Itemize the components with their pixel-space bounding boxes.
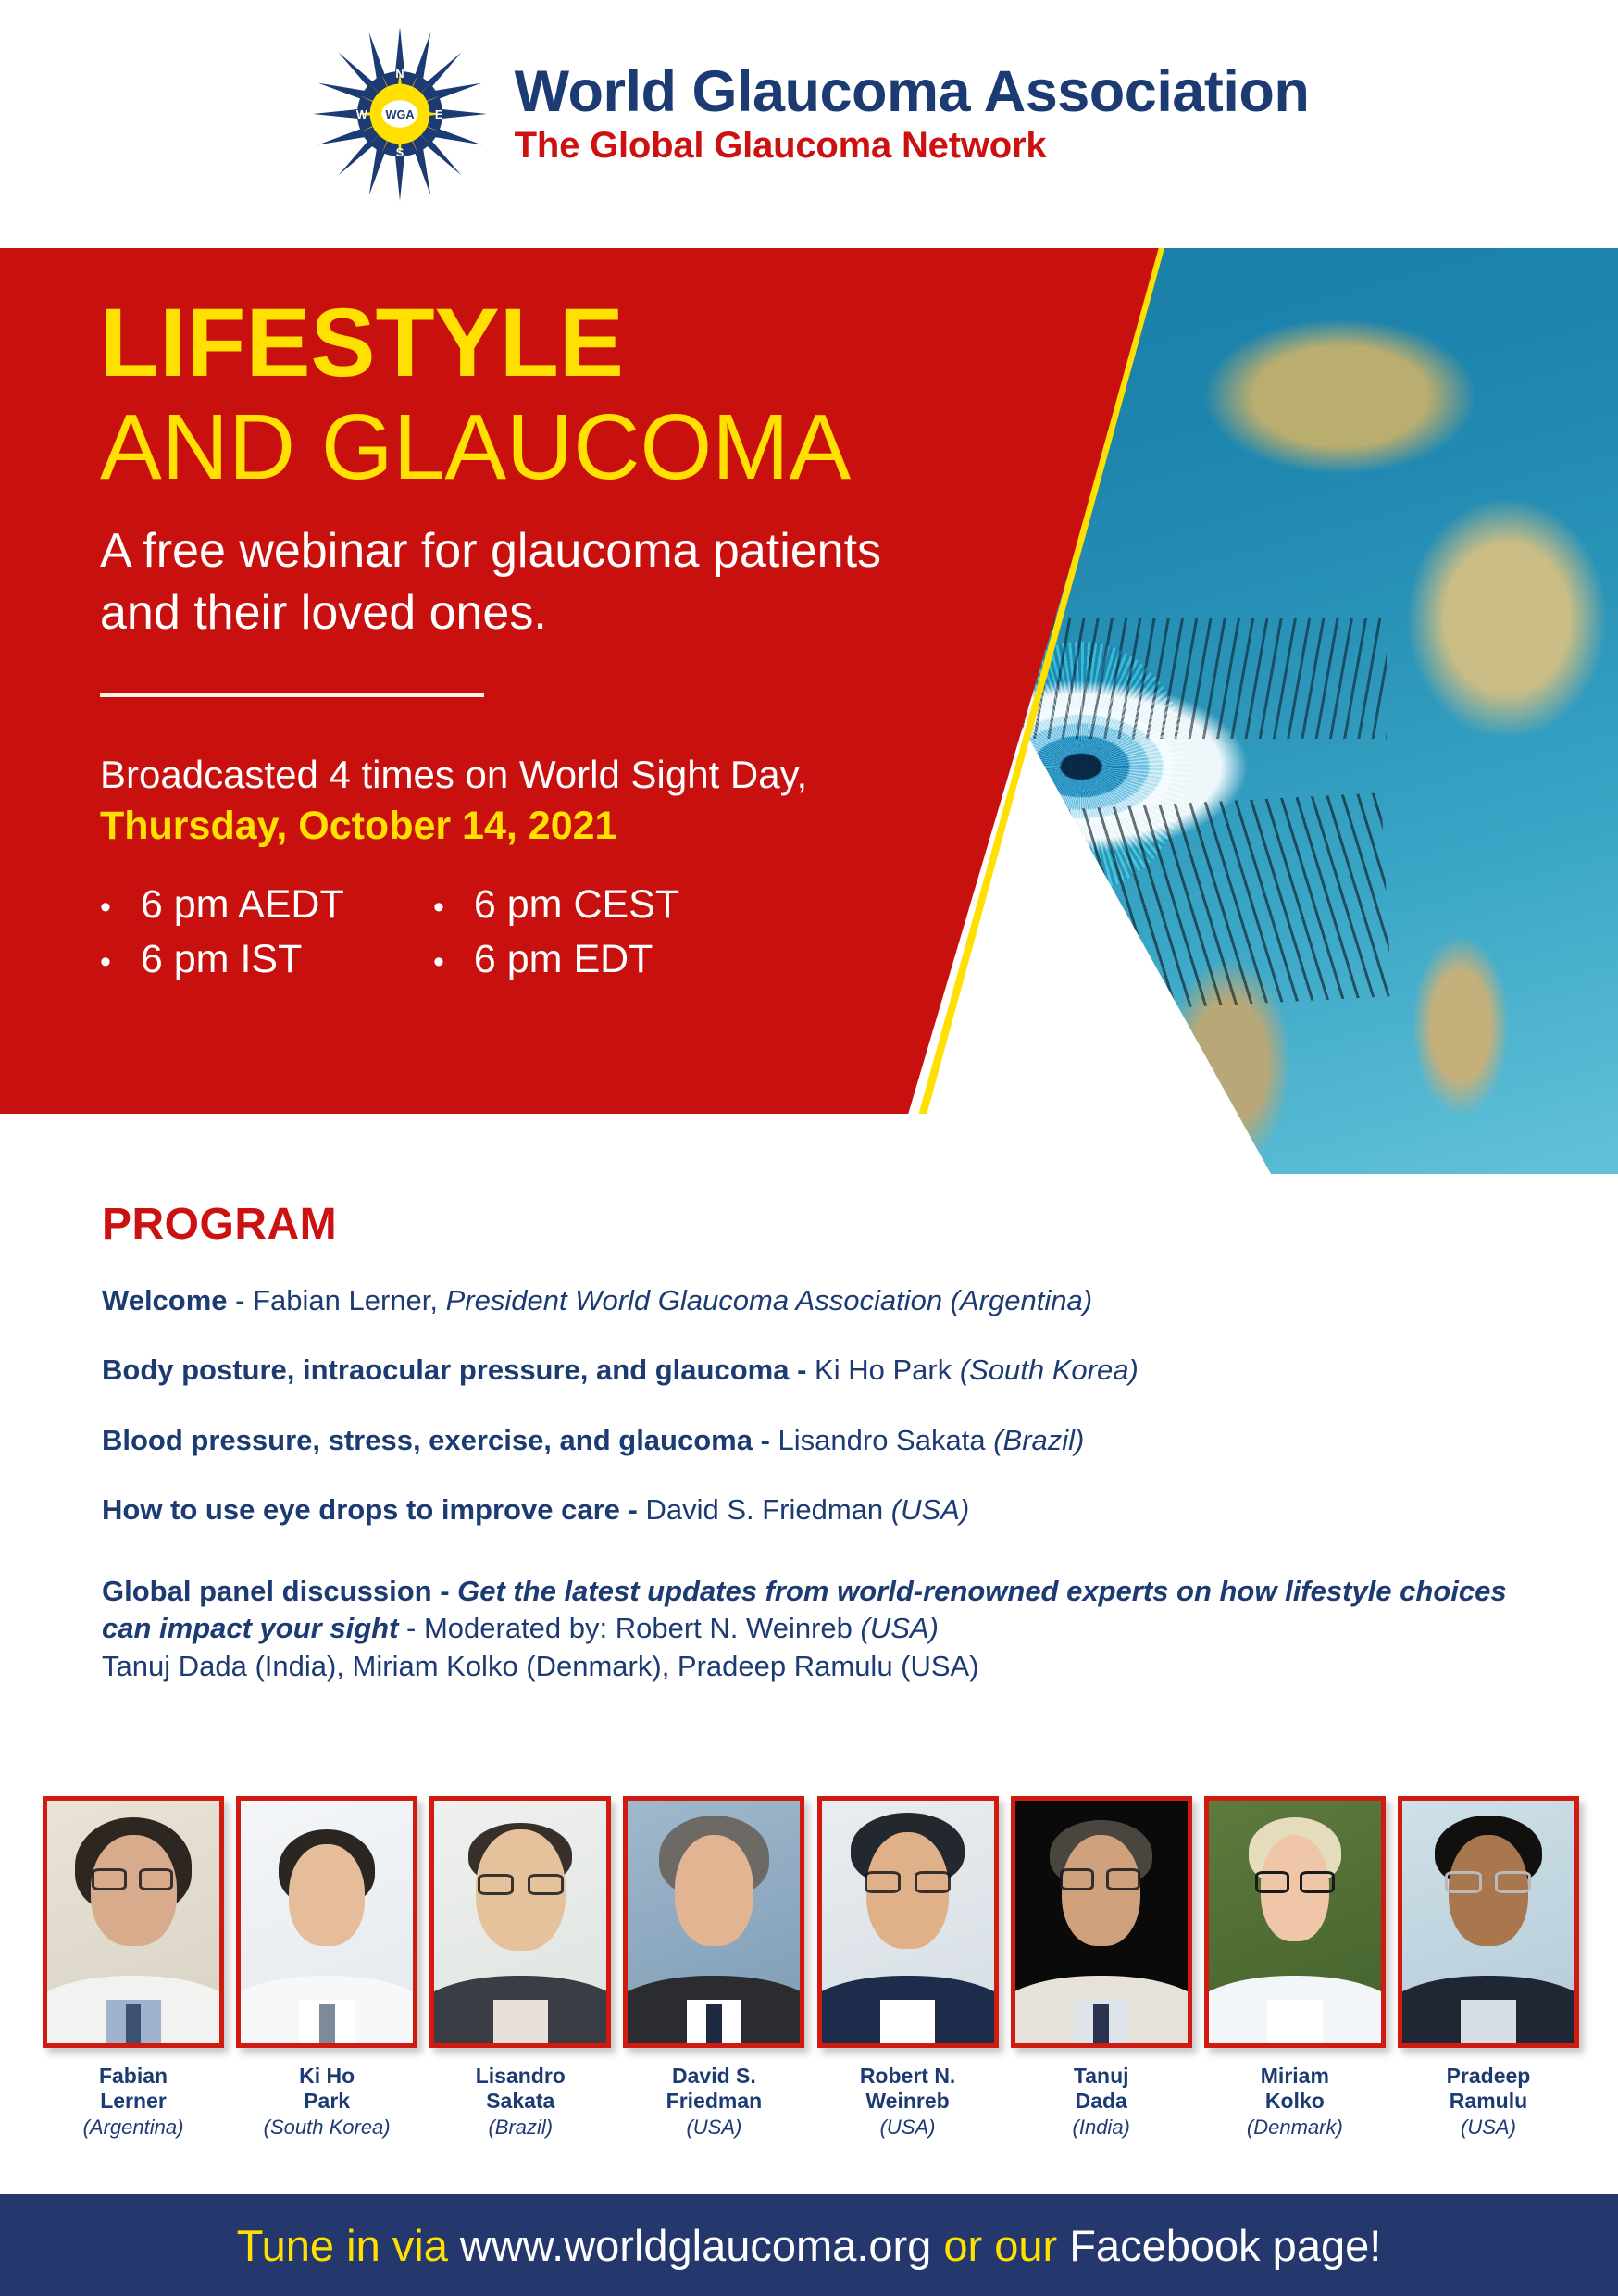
broadcast-time-label: 6 pm IST [141, 937, 302, 982]
compass-rose-icon: WGA N S W E [309, 23, 491, 205]
speaker-name: Fabian Lerner [99, 2064, 168, 2114]
speaker-country: (USA) [686, 2115, 741, 2140]
speaker-first-name: Pradeep [1447, 2064, 1531, 2088]
speaker-first-name: Tanuj [1074, 2064, 1129, 2088]
compass-north-label: N [395, 66, 404, 80]
panel-dash: - [432, 1575, 458, 1607]
footer-text: Tune in via www.worldglaucoma.org or our… [237, 2220, 1382, 2271]
hero-title-main: LIFESTYLE [100, 294, 1044, 392]
speaker-first-name: Lisandro [476, 2064, 566, 2088]
speaker-card: Robert N. Weinreb (USA) [817, 1796, 999, 2140]
panel-moderator: - Moderated by: Robert N. Weinreb [398, 1612, 860, 1644]
program-item-affiliation: (South Korea) [960, 1354, 1139, 1386]
speaker-last-name: Kolko [1265, 2089, 1325, 2113]
speaker-card: Miriam Kolko (Denmark) [1204, 1796, 1386, 2140]
speaker-card: Tanuj Dada (India) [1011, 1796, 1192, 2140]
speaker-last-name: Lerner [100, 2089, 167, 2113]
speaker-card: Fabian Lerner (Argentina) [43, 1796, 224, 2140]
footer-or-our-label: or our [931, 2221, 1069, 2270]
speaker-last-name: Ramulu [1450, 2089, 1527, 2113]
program-item-dash: - [753, 1424, 778, 1456]
program-panel-item: Global panel discussion - Get the latest… [102, 1573, 1546, 1685]
program-item-speaker: Ki Ho Park [815, 1354, 960, 1386]
program-heading: PROGRAM [102, 1199, 1546, 1250]
hero-tagline-line2: and their loved ones. [100, 586, 547, 640]
program-item-topic: Welcome [102, 1284, 228, 1316]
speaker-last-name: Sakata [486, 2089, 554, 2113]
program-item: Welcome - Fabian Lerner, President World… [102, 1282, 1546, 1319]
speaker-first-name: Fabian [99, 2064, 168, 2088]
hero-divider [100, 693, 484, 697]
program-item-dash: - [789, 1354, 815, 1386]
speaker-photo [429, 1796, 611, 2048]
bullet-icon: • [433, 946, 444, 978]
speaker-card: Pradeep Ramulu (USA) [1398, 1796, 1579, 2140]
bullet-icon: • [100, 946, 111, 978]
footer-url[interactable]: www.worldglaucoma.org [460, 2221, 931, 2270]
speaker-photo [1011, 1796, 1192, 2048]
program-item: Blood pressure, stress, exercise, and gl… [102, 1422, 1546, 1459]
speaker-name: Pradeep Ramulu [1447, 2064, 1531, 2114]
hero-content: LIFESTYLE AND GLAUCOMA A free webinar fo… [100, 294, 1044, 982]
compass-west-label: W [355, 106, 367, 120]
speaker-name: Miriam Kolko [1261, 2064, 1329, 2114]
panel-moderator-country: (USA) [861, 1612, 939, 1644]
speaker-last-name: Park [304, 2089, 350, 2113]
page-header: WGA N S W E World Glaucoma Association T… [0, 0, 1618, 227]
speaker-country: (Argentina) [83, 2115, 184, 2140]
organization-name: World Glaucoma Association [515, 63, 1310, 121]
program-item-affiliation: (Brazil) [993, 1424, 1084, 1456]
speaker-photo [623, 1796, 804, 2048]
speaker-card: David S. Friedman (USA) [623, 1796, 804, 2140]
speaker-first-name: Robert N. [860, 2064, 956, 2088]
program-item-speaker: Lisandro Sakata [778, 1424, 994, 1456]
organization-tagline: The Global Glaucoma Network [515, 127, 1310, 164]
bullet-icon: • [433, 892, 444, 923]
speaker-card: Ki Ho Park (South Korea) [236, 1796, 417, 2140]
footer-tune-in-label: Tune in via [237, 2221, 460, 2270]
speaker-first-name: Ki Ho [299, 2064, 355, 2088]
program-item-dash: - [228, 1284, 254, 1316]
broadcast-time-item: • 6 pm AEDT [100, 882, 433, 928]
speaker-last-name: Dada [1076, 2089, 1127, 2113]
program-item-topic: How to use eye drops to improve care [102, 1493, 620, 1526]
program-item-dash: - [620, 1493, 646, 1526]
program-section: PROGRAM Welcome - Fabian Lerner, Preside… [102, 1199, 1546, 1685]
broadcast-time-item: • 6 pm IST [100, 937, 433, 982]
speaker-name: David S. Friedman [666, 2064, 763, 2114]
broadcast-time-item: • 6 pm CEST [433, 882, 766, 928]
speaker-photo [1398, 1796, 1579, 2048]
program-item-speaker: Fabian Lerner, [253, 1284, 446, 1316]
program-item-affiliation: (USA) [891, 1493, 969, 1526]
speaker-card: Lisandro Sakata (Brazil) [429, 1796, 611, 2140]
hero-tagline-line1: A free webinar for glaucoma patients [100, 524, 881, 578]
program-item-topic: Body posture, intraocular pressure, and … [102, 1354, 789, 1386]
speaker-first-name: Miriam [1261, 2064, 1329, 2088]
speaker-country: (South Korea) [264, 2115, 391, 2140]
panel-topic: Global panel discussion [102, 1575, 432, 1607]
logo-center-label: WGA [385, 106, 414, 120]
speaker-name: Lisandro Sakata [476, 2064, 566, 2114]
broadcast-time-label: 6 pm CEST [474, 882, 679, 928]
speaker-last-name: Friedman [666, 2089, 763, 2113]
speaker-photo [236, 1796, 417, 2048]
logo-lockup: WGA N S W E World Glaucoma Association T… [309, 23, 1310, 205]
broadcast-time-item: • 6 pm EDT [433, 937, 766, 982]
broadcast-times-list: • 6 pm AEDT • 6 pm CEST • 6 pm IST • 6 p… [100, 882, 1044, 982]
program-item-affiliation: President World Glaucoma Association (Ar… [446, 1284, 1092, 1316]
panel-panelists: Tanuj Dada (India), Miriam Kolko (Denmar… [102, 1650, 979, 1682]
broadcast-time-label: 6 pm EDT [474, 937, 653, 982]
speaker-country: (Brazil) [488, 2115, 553, 2140]
bullet-icon: • [100, 892, 111, 923]
logo-text-block: World Glaucoma Association The Global Gl… [515, 63, 1310, 164]
program-item: How to use eye drops to improve care - D… [102, 1491, 1546, 1529]
speaker-first-name: David S. [672, 2064, 756, 2088]
broadcast-time-label: 6 pm AEDT [141, 882, 344, 928]
program-item-speaker: David S. Friedman [645, 1493, 890, 1526]
hero-title-sub: AND GLAUCOMA [100, 399, 1044, 496]
broadcast-line: Broadcasted 4 times on World Sight Day, [100, 753, 1044, 797]
speaker-photo [43, 1796, 224, 2048]
speaker-country: (Denmark) [1247, 2115, 1343, 2140]
speaker-country: (USA) [880, 2115, 936, 2140]
speaker-photo [1204, 1796, 1386, 2048]
footer-bar: Tune in via www.worldglaucoma.org or our… [0, 2194, 1618, 2296]
speaker-name: Robert N. Weinreb [860, 2064, 956, 2114]
speakers-gallery: Fabian Lerner (Argentina) Ki Ho Park (So… [43, 1796, 1579, 2140]
hero-tagline: A free webinar for glaucoma patients and… [100, 520, 1044, 643]
speaker-photo [817, 1796, 999, 2048]
compass-south-label: S [395, 145, 404, 159]
speaker-name: Tanuj Dada [1074, 2064, 1129, 2114]
program-item: Body posture, intraocular pressure, and … [102, 1352, 1546, 1389]
speaker-last-name: Weinreb [865, 2089, 949, 2113]
program-item-topic: Blood pressure, stress, exercise, and gl… [102, 1424, 753, 1456]
speaker-country: (USA) [1461, 2115, 1516, 2140]
compass-east-label: E [435, 106, 443, 120]
footer-facebook-label[interactable]: Facebook page! [1069, 2221, 1381, 2270]
speaker-name: Ki Ho Park [299, 2064, 355, 2114]
hero-section: LIFESTYLE AND GLAUCOMA A free webinar fo… [0, 248, 1618, 1188]
broadcast-date: Thursday, October 14, 2021 [100, 804, 1044, 849]
speaker-country: (India) [1073, 2115, 1130, 2140]
